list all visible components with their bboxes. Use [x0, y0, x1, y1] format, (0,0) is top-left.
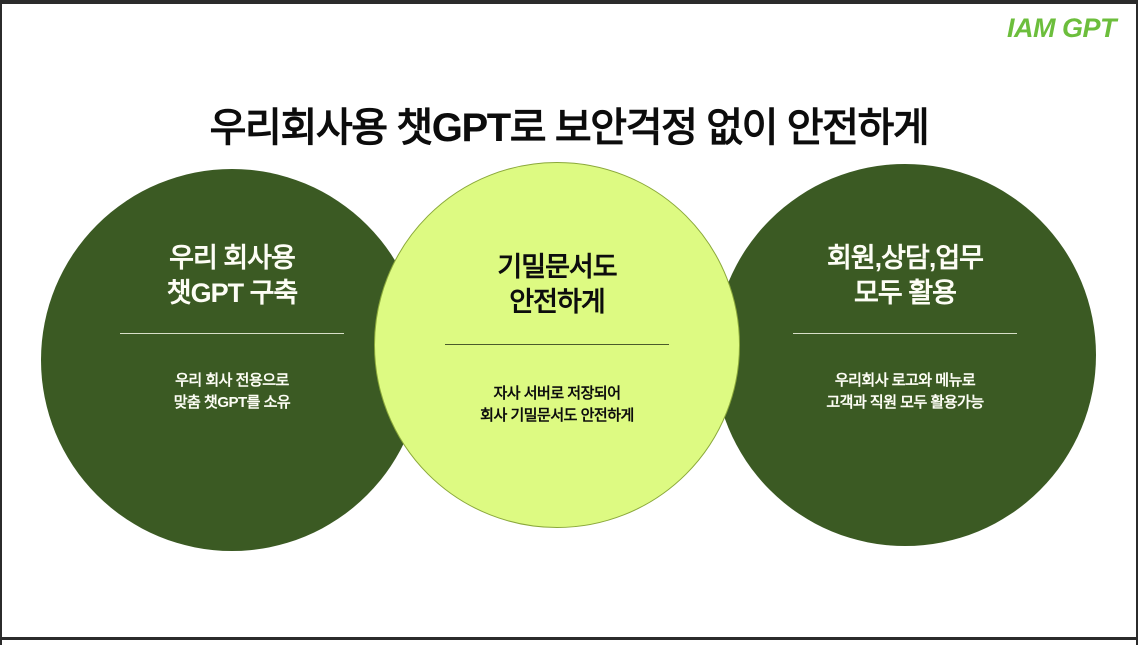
- feature-description: 우리회사 로고와 메뉴로 고객과 직원 모두 활용가능: [826, 370, 983, 414]
- slide-canvas: IAM GPT 우리회사용 챗GPT로 보안걱정 없이 안전하게 우리 회사용 …: [0, 0, 1138, 645]
- feature-title: 우리 회사용 챗GPT 구축: [167, 241, 298, 310]
- feature-circle-usage: 회원,상담,업무 모두 활용 우리회사 로고와 메뉴로 고객과 직원 모두 활용…: [714, 164, 1096, 546]
- circle-diagram: 우리 회사용 챗GPT 구축 우리 회사 전용으로 맞춤 챗GPT를 소유 기밀…: [0, 0, 1138, 645]
- feature-title: 기밀문서도 안전하게: [497, 250, 616, 319]
- feature-divider: [793, 333, 1017, 334]
- feature-title: 회원,상담,업무 모두 활용: [827, 241, 983, 310]
- feature-description: 자사 서버로 저장되어 회사 기밀문서도 안전하게: [480, 383, 634, 427]
- feature-description: 우리 회사 전용으로 맞춤 챗GPT를 소유: [174, 370, 290, 414]
- feature-circle-content: 기밀문서도 안전하게 자사 서버로 저장되어 회사 기밀문서도 안전하게: [375, 163, 739, 427]
- feature-divider: [120, 333, 344, 334]
- feature-circle-content: 우리 회사용 챗GPT 구축 우리 회사 전용으로 맞춤 챗GPT를 소유: [41, 169, 423, 414]
- feature-circle-content: 회원,상담,업무 모두 활용 우리회사 로고와 메뉴로 고객과 직원 모두 활용…: [714, 164, 1096, 414]
- feature-circle-security: 기밀문서도 안전하게 자사 서버로 저장되어 회사 기밀문서도 안전하게: [374, 162, 740, 528]
- feature-circle-build: 우리 회사용 챗GPT 구축 우리 회사 전용으로 맞춤 챗GPT를 소유: [41, 169, 423, 551]
- feature-divider: [445, 344, 669, 345]
